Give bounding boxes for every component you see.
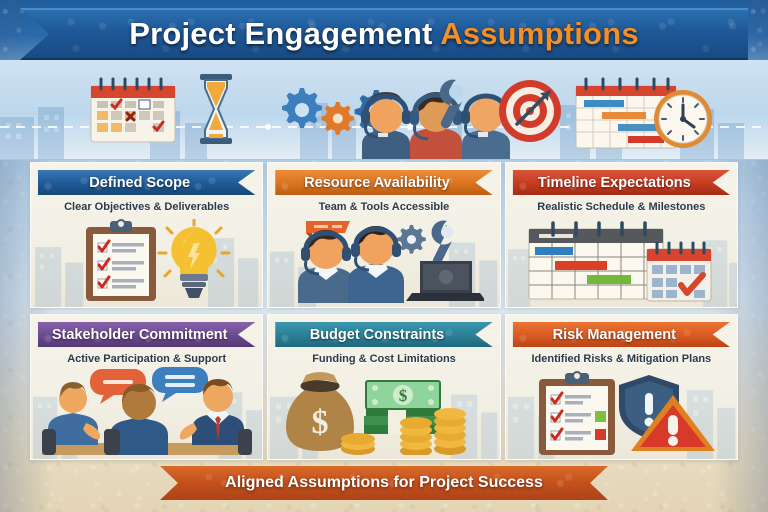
clipboard-checklist-icon: [54, 219, 240, 303]
hourglass-icon: [196, 72, 236, 148]
title-main: Project Engagement: [129, 16, 440, 51]
card-illustration: [506, 213, 737, 307]
card-illustration: [31, 213, 262, 307]
clipboard-checklist-icon: [539, 372, 615, 455]
wrench-icon: [428, 78, 470, 130]
meeting-people-icon: [42, 367, 252, 455]
card-illustration: [268, 213, 499, 307]
card-illustration: $ $: [268, 365, 499, 459]
card-title: Defined Scope: [89, 175, 204, 191]
card-subtitle: Realistic Schedule & Milestones: [537, 201, 705, 213]
card-title: Budget Constraints: [310, 327, 459, 343]
card-title-ribbon: Timeline Expectations: [513, 170, 730, 195]
speech-bubble-blue-icon: [152, 367, 208, 402]
card-title-ribbon: Stakeholder Commitment: [38, 322, 255, 347]
money-illustration: $ $: [284, 369, 484, 455]
infographic-poster: Project Engagement Assumptions Defined S…: [0, 0, 768, 512]
resource-team-illustration: [284, 217, 484, 303]
card-timeline-expectations[interactable]: Timeline Expectations Realistic Schedule…: [505, 162, 738, 308]
lightbulb-icon: [159, 219, 229, 298]
title-accent: Assumptions: [440, 16, 639, 51]
footer-ribbon: Aligned Assumptions for Project Success: [160, 466, 608, 500]
card-title-ribbon: Risk Management: [513, 322, 730, 347]
card-resource-availability[interactable]: Resource Availability Team & Tools Acces…: [267, 162, 500, 308]
header-illustration-strip: [0, 60, 768, 160]
card-subtitle: Team & Tools Accessible: [319, 201, 450, 213]
card-subtitle: Identified Risks & Mitigation Plans: [531, 353, 711, 365]
card-defined-scope[interactable]: Defined Scope Clear Objectives & Deliver…: [30, 162, 263, 308]
card-title: Timeline Expectations: [538, 175, 705, 191]
card-subtitle: Clear Objectives & Deliverables: [64, 201, 229, 213]
card-subtitle: Active Participation & Support: [67, 353, 226, 365]
card-illustration: [31, 365, 262, 459]
calendar-icon: [85, 74, 181, 146]
wrench-icon: [432, 220, 453, 264]
page-title: Project Engagement Assumptions: [129, 16, 639, 52]
target-icon: [497, 78, 563, 144]
clock-icon: [652, 88, 714, 150]
risk-illustration: [521, 369, 721, 455]
card-title-ribbon: Defined Scope: [38, 170, 255, 195]
card-subtitle: Funding & Cost Limitations: [312, 353, 456, 365]
card-title: Risk Management: [553, 327, 690, 343]
card-risk-management[interactable]: Risk Management Identified Risks & Mitig…: [505, 314, 738, 460]
calendar-check-icon: [647, 243, 711, 301]
title-banner: Project Engagement Assumptions: [20, 8, 748, 60]
assumption-card-grid: Defined Scope Clear Objectives & Deliver…: [30, 162, 738, 460]
gantt-chart-icon: [521, 219, 721, 303]
card-title-ribbon: Resource Availability: [275, 170, 492, 195]
footer-text: Aligned Assumptions for Project Success: [225, 474, 543, 492]
card-title: Resource Availability: [304, 175, 464, 191]
card-stakeholder-commitment[interactable]: Stakeholder Commitment Active Participat…: [30, 314, 263, 460]
card-illustration: [506, 365, 737, 459]
card-title-ribbon: Budget Constraints: [275, 322, 492, 347]
laptop-icon: [406, 261, 484, 301]
svg-text:$: $: [399, 386, 408, 405]
card-budget-constraints[interactable]: Budget Constraints Funding & Cost Limita…: [267, 314, 500, 460]
svg-text:$: $: [311, 404, 328, 441]
card-title: Stakeholder Commitment: [52, 327, 242, 343]
